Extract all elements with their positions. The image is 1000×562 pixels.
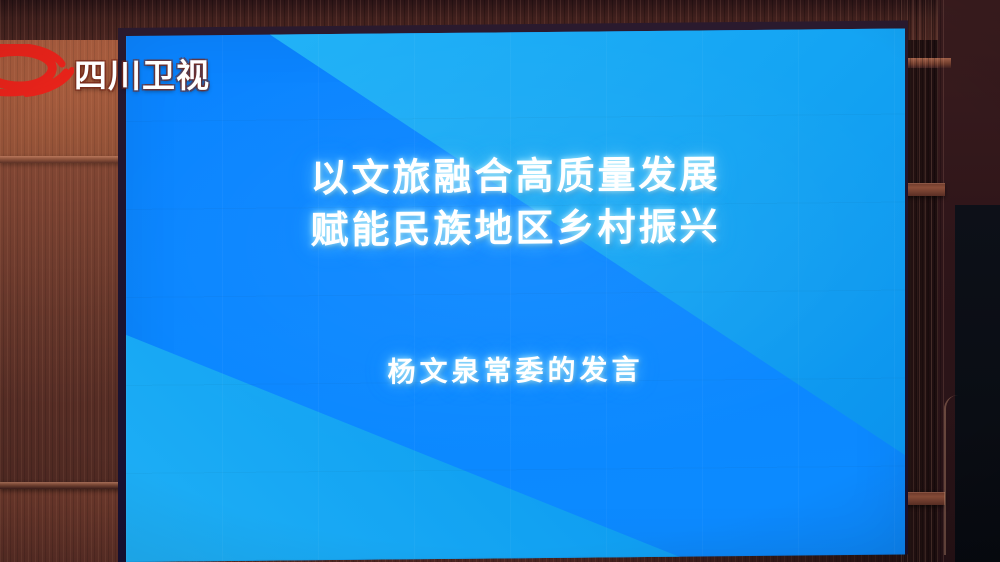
broadcast-frame: 以文旅融合高质量发展 赋能民族地区乡村振兴 杨文泉常委的发言 四川卫视 [0, 0, 1000, 562]
dark-panel-right [955, 205, 1000, 562]
channel-bug: 四川卫视 [0, 44, 210, 106]
slide-title-line-2: 赋能民族地区乡村振兴 [310, 201, 720, 257]
sctv-swoosh-logo-icon [0, 44, 74, 106]
presentation-slide: 以文旅融合高质量发展 赋能民族地区乡村振兴 杨文泉常委的发言 [126, 29, 905, 562]
led-presentation-screen: 以文旅融合高质量发展 赋能民族地区乡村振兴 杨文泉常委的发言 [126, 29, 905, 562]
slide-title: 以文旅融合高质量发展 赋能民族地区乡村振兴 [310, 148, 720, 257]
hanging-cord [944, 395, 958, 555]
slide-title-line-1: 以文旅融合高质量发展 [310, 148, 720, 204]
channel-wordmark: 四川卫视 [74, 59, 210, 92]
slide-subtitle: 杨文泉常委的发言 [387, 348, 643, 390]
